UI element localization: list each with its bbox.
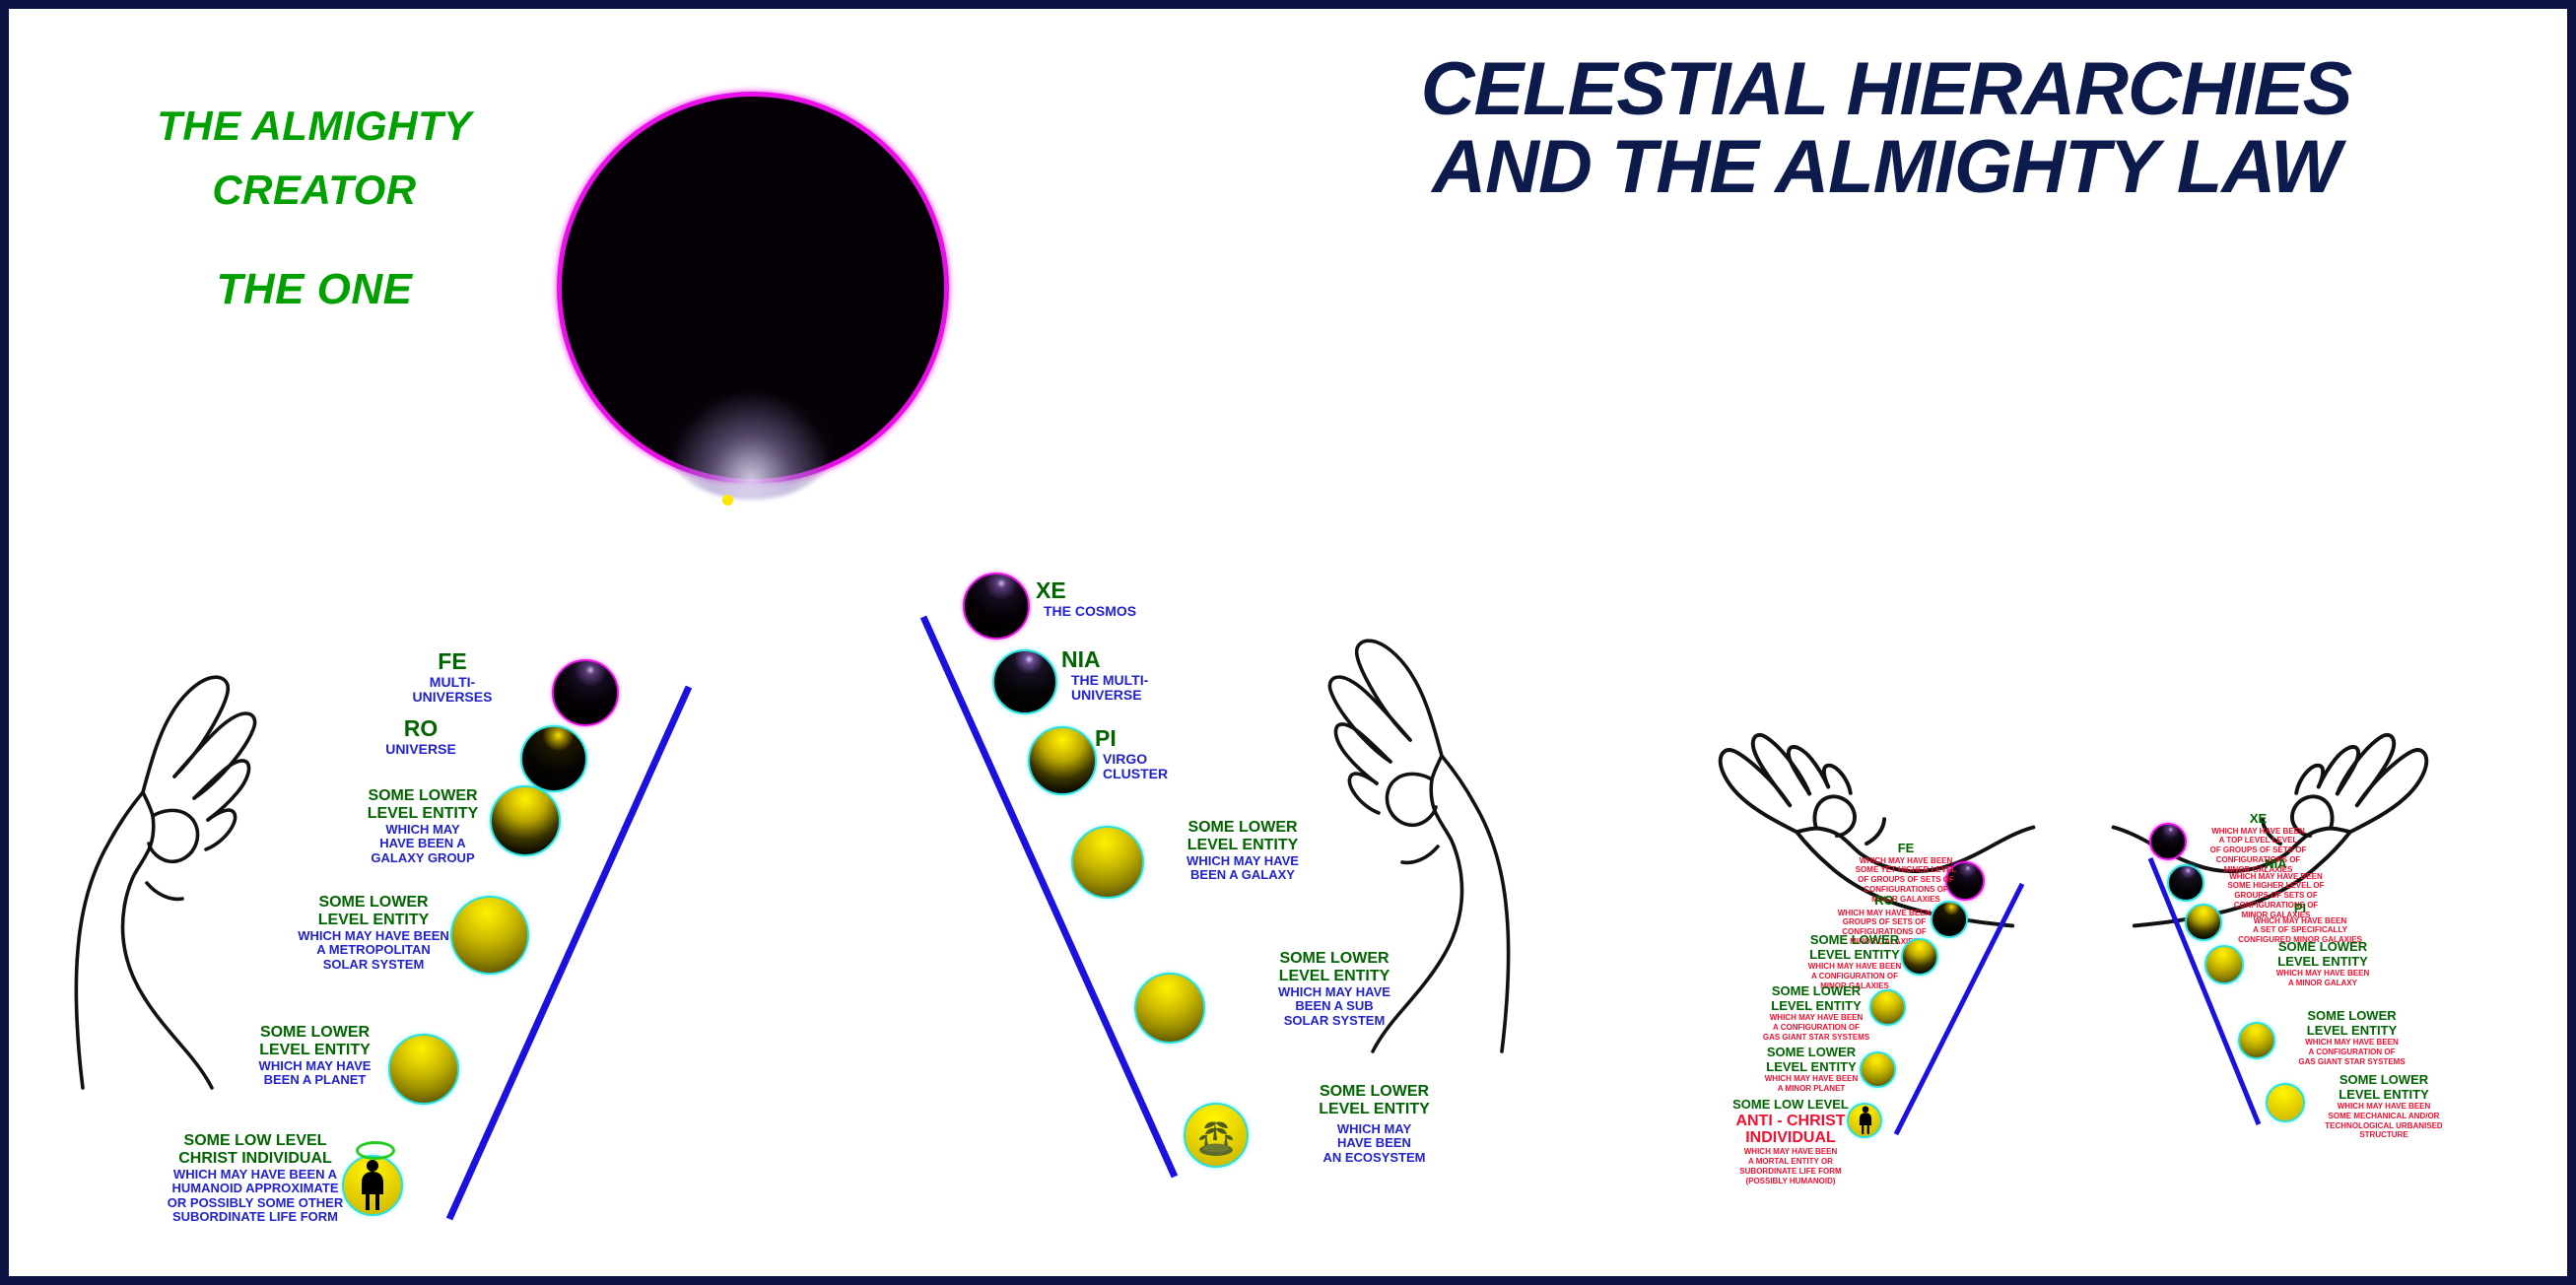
label-pi-col2: PI VIRGO CLUSTER [1095,726,1272,782]
label-title: SOME LOWERLEVEL ENTITY [224,1024,406,1059]
sphere-nia-col4 [2167,864,2204,902]
label-title: SOME LOWERLEVEL ENTITY [334,787,511,823]
label-minor-galaxy-col4: SOME LOWERLEVEL ENTITY WHICH MAY HAVE BE… [2259,940,2387,988]
label-title: SOME LOWERLEVEL ENTITY [1288,1083,1460,1118]
label-metropolitan-solar-col1: SOME LOWERLEVEL ENTITY WHICH MAY HAVE BE… [280,894,467,972]
label-nia-col2: NIA THE MULTI- UNIVERSE [1061,647,1239,704]
sphere-gas-giant-col4 [2238,1022,2275,1059]
label-xe-col2: XE THE COSMOS [1036,578,1213,619]
plant-cluster-icon [1195,1115,1237,1158]
sphere-xe-col2 [963,573,1030,640]
label-title: SOME LOWERLEVEL ENTITY [1246,950,1423,985]
label-galaxy-col2: SOME LOWERLEVEL ENTITY WHICH MAY HAVE BE… [1154,819,1331,883]
label-minor-planet-col3: SOME LOWERLEVEL ENTITY WHICH MAY HAVE BE… [1751,1046,1871,1094]
sphere-sub-solar-col2 [1134,973,1205,1044]
sphere-nia-col2 [992,649,1057,714]
label-christ-col1: SOME LOW LEVELCHRIST INDIVIDUAL WHICH MA… [142,1132,369,1225]
label-title: SOME LOWERLEVEL ENTITY [2310,1073,2458,1102]
label-fe-col1: FE MULTI- UNIVERSES [354,649,551,706]
label-title: SOME LOWERLEVEL ENTITY [1154,819,1331,854]
label-sub-solar-col2: SOME LOWERLEVEL ENTITY WHICH MAY HAVE BE… [1246,950,1423,1028]
label-title: SOME LOWERLEVEL ENTITY [2280,1009,2423,1038]
label-gas-giant-col3: SOME LOWERLEVEL ENTITY WHICH MAY HAVE BE… [1753,984,1879,1042]
sphere-galaxy-col2 [1071,826,1144,899]
label-minor-galaxies-col3: SOME LOWERLEVEL ENTITY WHICH MAY HAVE BE… [1793,933,1917,990]
sphere-fe-col1 [552,659,619,726]
sphere-xe-col4 [2149,823,2187,860]
sphere-minor-galaxy-col4 [2204,945,2244,984]
sphere-pi-col2 [1028,726,1097,795]
sphere-urbanised-structure-col4 [2266,1083,2305,1122]
label-anti-christ-col3: SOME LOW LEVEL ANTI - CHRIST INDIVIDUAL … [1722,1098,1860,1185]
sphere-pi-col4 [2185,904,2222,941]
label-title: SOME LOWERLEVEL ENTITY [2259,940,2387,969]
label-ecosystem-col2: SOME LOWERLEVEL ENTITY WHICH MAY HAVE BE… [1288,1083,1460,1165]
label-urbanised-structure-col4: SOME LOWERLEVEL ENTITY WHICH MAY HAVE BE… [2310,1073,2458,1140]
label-title: SOME LOWERLEVEL ENTITY [280,894,467,929]
label-gas-giant-col4: SOME LOWERLEVEL ENTITY WHICH MAY HAVE BE… [2280,1009,2423,1066]
label-title: SOME LOWERLEVEL ENTITY [1751,1046,1871,1074]
label-title: SOME LOW LEVELCHRIST INDIVIDUAL [142,1132,369,1168]
label-planet-col1: SOME LOWERLEVEL ENTITY WHICH MAY HAVE BE… [224,1024,406,1088]
diagram-canvas: THE ALMIGHTY CREATOR THE ONE CELESTIAL H… [0,0,2576,1285]
label-galaxy-group-col1: SOME LOWERLEVEL ENTITY WHICH MAY HAVE BE… [334,787,511,865]
label-ro-col1: RO UNIVERSE [322,716,519,757]
label-title: SOME LOWERLEVEL ENTITY [1793,933,1917,962]
sphere-ro-col1 [520,725,587,792]
label-title: SOME LOWERLEVEL ENTITY [1753,984,1879,1013]
